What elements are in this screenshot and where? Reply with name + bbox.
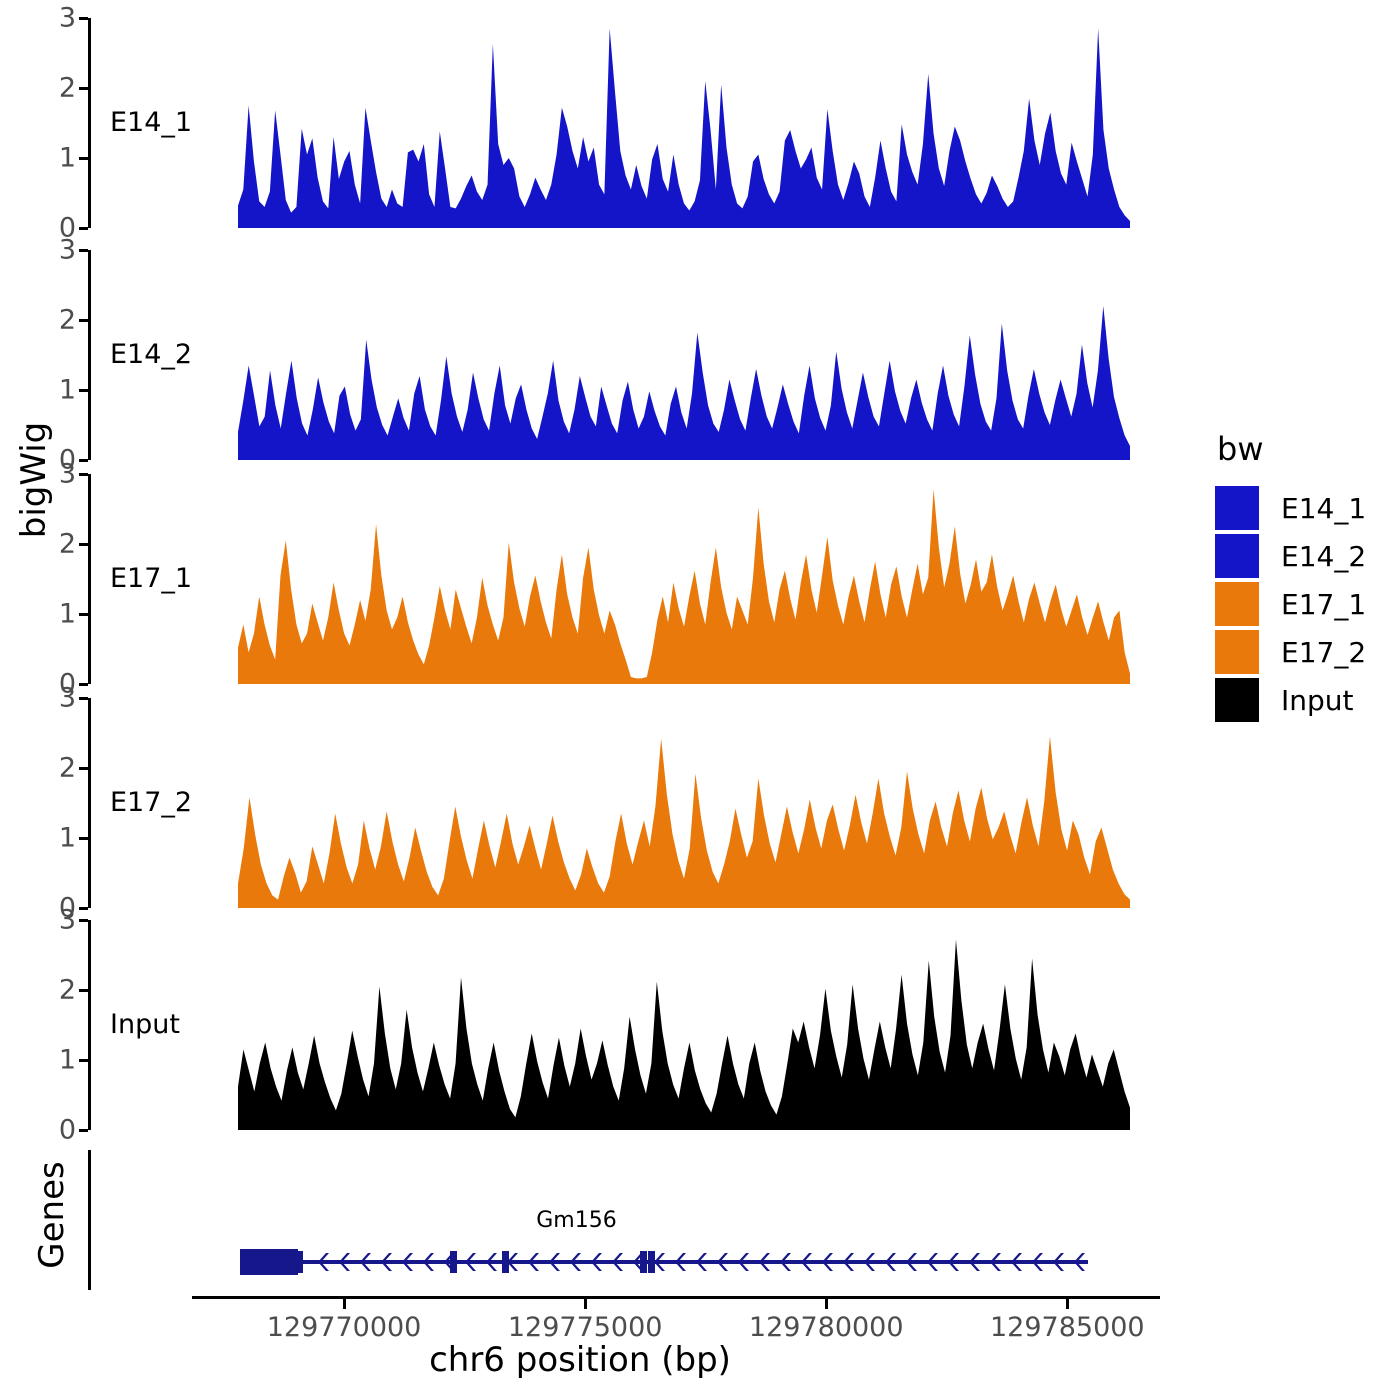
track-panel-e17_2: 3210E17_2 <box>88 698 1163 908</box>
coverage-area-e17_1 <box>238 474 1130 684</box>
y-tick <box>79 249 88 252</box>
legend-item-label: E17_2 <box>1281 636 1366 669</box>
y-axis-spine <box>88 698 91 908</box>
legend-item-input[interactable]: Input <box>1215 676 1366 724</box>
legend-items: E14_1E14_2E17_1E17_2Input <box>1215 484 1366 724</box>
track-label-e14_1: E14_1 <box>110 107 192 138</box>
y-tick-label: 0 <box>59 1117 76 1144</box>
y-axis-label-bigwig: bigWig <box>14 360 54 600</box>
y-tick-label: 3 <box>59 907 76 934</box>
track-panel-e14_1: 3210E14_1 <box>88 18 1163 228</box>
y-tick <box>79 907 88 910</box>
y-tick <box>79 919 88 922</box>
legend-item-label: Input <box>1281 684 1354 717</box>
coverage-area-e14_2 <box>238 250 1130 460</box>
y-tick <box>79 157 88 160</box>
y-tick <box>79 767 88 770</box>
legend-color-swatch <box>1215 630 1259 674</box>
legend-item-e17_2[interactable]: E17_2 <box>1215 628 1366 676</box>
legend-item-label: E17_1 <box>1281 588 1366 621</box>
x-tick <box>825 1299 828 1309</box>
y-axis-spine <box>88 474 91 684</box>
x-tick <box>1066 1299 1069 1309</box>
y-tick <box>79 837 88 840</box>
legend-color-swatch <box>1215 678 1259 722</box>
x-tick-label: 129770000 <box>267 1312 422 1343</box>
y-tick <box>79 17 88 20</box>
x-tick <box>584 1299 587 1309</box>
y-tick <box>79 683 88 686</box>
y-tick-label: 2 <box>59 531 76 558</box>
y-tick-label: 3 <box>59 685 76 712</box>
y-axis-spine <box>88 18 91 228</box>
legend-item-label: E14_1 <box>1281 492 1366 525</box>
y-tick <box>79 389 88 392</box>
y-tick-label: 2 <box>59 977 76 1004</box>
track-label-input: Input <box>110 1009 180 1040</box>
legend-item-label: E14_2 <box>1281 540 1366 573</box>
track-label-e14_2: E14_2 <box>110 339 192 370</box>
genes-panel: Gm156 <box>88 1150 1163 1290</box>
coverage-area-e14_1 <box>238 18 1130 228</box>
legend-color-swatch <box>1215 534 1259 578</box>
legend-color-swatch <box>1215 486 1259 530</box>
x-tick <box>343 1299 346 1309</box>
x-tick-label: 129785000 <box>990 1312 1145 1343</box>
y-tick-label: 1 <box>59 145 76 172</box>
y-tick <box>79 1059 88 1062</box>
legend-item-e17_1[interactable]: E17_1 <box>1215 580 1366 628</box>
y-tick-label: 1 <box>59 377 76 404</box>
track-panel-input: 3210Input <box>88 920 1163 1130</box>
x-tick-label: 129780000 <box>749 1312 904 1343</box>
y-tick-label: 2 <box>59 307 76 334</box>
legend-item-e14_1[interactable]: E14_1 <box>1215 484 1366 532</box>
y-tick-label: 3 <box>59 461 76 488</box>
y-tick <box>79 459 88 462</box>
legend-item-e14_2[interactable]: E14_2 <box>1215 532 1366 580</box>
y-tick-label: 1 <box>59 1047 76 1074</box>
x-axis: 129770000129775000129780000129785000 <box>192 1296 1160 1299</box>
y-tick-label: 1 <box>59 825 76 852</box>
y-tick <box>79 473 88 476</box>
legend-title: bw <box>1217 430 1366 468</box>
y-tick-label: 3 <box>59 237 76 264</box>
y-tick <box>79 1129 88 1132</box>
y-axis-spine <box>88 250 91 460</box>
y-tick <box>79 227 88 230</box>
y-tick-label: 1 <box>59 601 76 628</box>
track-label-e17_1: E17_1 <box>110 563 192 594</box>
y-axis-spine <box>88 920 91 1130</box>
y-tick <box>79 543 88 546</box>
track-panel-e14_2: 3210E14_2 <box>88 250 1163 460</box>
coverage-area-input <box>238 920 1130 1130</box>
y-tick-label: 3 <box>59 5 76 32</box>
legend: bw E14_1E14_2E17_1E17_2Input <box>1215 430 1366 724</box>
track-panel-e17_1: 3210E17_1 <box>88 474 1163 684</box>
legend-color-swatch <box>1215 582 1259 626</box>
track-label-e17_2: E17_2 <box>110 787 192 818</box>
y-tick <box>79 319 88 322</box>
y-tick <box>79 613 88 616</box>
y-tick <box>79 989 88 992</box>
x-axis-label: chr6 position (bp) <box>0 1340 1160 1380</box>
y-tick-label: 2 <box>59 755 76 782</box>
y-tick <box>79 87 88 90</box>
coverage-area-e17_2 <box>238 698 1130 908</box>
y-tick <box>79 697 88 700</box>
x-tick-label: 129775000 <box>508 1312 663 1343</box>
y-tick-label: 2 <box>59 75 76 102</box>
